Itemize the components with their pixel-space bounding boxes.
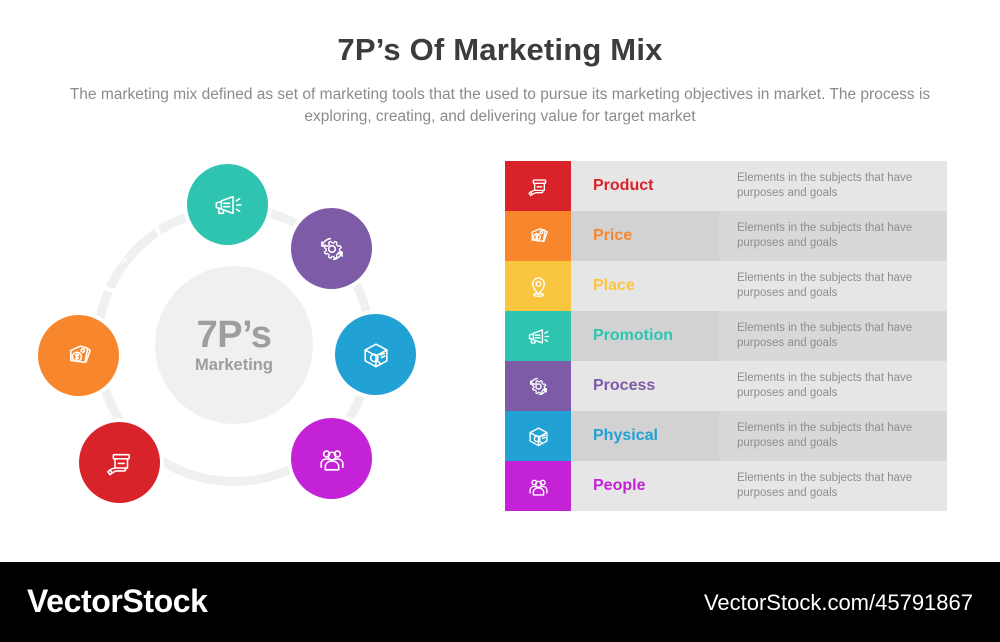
megaphone-icon [208, 185, 248, 225]
page-subtitle: The marketing mix defined as set of mark… [50, 84, 950, 128]
row-icon-cell [505, 261, 571, 311]
infographic-canvas: 7P’s Of Marketing Mix The marketing mix … [0, 0, 1000, 642]
row-body: Physical Elements in the subjects that h… [571, 411, 947, 461]
box-magnifier-icon [356, 335, 396, 375]
row-label: Physical [571, 411, 719, 461]
diagram-hub: 7P’s Marketing [155, 266, 313, 424]
table-row[interactable]: Place Elements in the subjects that have… [505, 261, 947, 311]
row-body: Price Elements in the subjects that have… [571, 211, 947, 261]
diagram-node-process[interactable] [291, 208, 372, 289]
table-row[interactable]: People Elements in the subjects that hav… [505, 461, 947, 511]
row-description: Elements in the subjects that have purpo… [719, 361, 947, 411]
row-icon-cell [505, 411, 571, 461]
gear-refresh-icon [312, 229, 352, 269]
vectorstock-url: VectorStock.com/45791867 [704, 590, 973, 616]
row-description: Elements in the subjects that have purpo… [719, 161, 947, 211]
row-body: Process Elements in the subjects that ha… [571, 361, 947, 411]
box-hand-icon [100, 443, 140, 483]
price-tag-icon [59, 336, 99, 376]
diagram-node-promotion[interactable] [187, 164, 268, 245]
row-icon-cell [505, 311, 571, 361]
page-title: 7P’s Of Marketing Mix [0, 32, 1000, 68]
row-label: Price [571, 211, 719, 261]
row-icon-cell [505, 361, 571, 411]
row-icon-cell [505, 461, 571, 511]
price-tag-icon [523, 221, 554, 252]
diagram-node-product[interactable] [79, 422, 160, 503]
vectorstock-logo: VectorStock [27, 583, 208, 620]
table-row[interactable]: Process Elements in the subjects that ha… [505, 361, 947, 411]
location-pin-icon [100, 229, 140, 269]
row-description: Elements in the subjects that have purpo… [719, 261, 947, 311]
people-group-icon [312, 439, 352, 479]
row-label: Process [571, 361, 719, 411]
people-group-icon [523, 471, 554, 502]
row-description: Elements in the subjects that have purpo… [719, 211, 947, 261]
row-description: Elements in the subjects that have purpo… [719, 411, 947, 461]
marketing-mix-table: Product Elements in the subjects that ha… [505, 161, 947, 511]
gear-refresh-icon [523, 371, 554, 402]
table-row[interactable]: Price Elements in the subjects that have… [505, 211, 947, 261]
table-row[interactable]: Product Elements in the subjects that ha… [505, 161, 947, 211]
location-pin-icon [523, 271, 554, 302]
row-label: Place [571, 261, 719, 311]
diagram-node-people[interactable] [291, 418, 372, 499]
row-description: Elements in the subjects that have purpo… [719, 461, 947, 511]
diagram-node-physical[interactable] [335, 314, 416, 395]
row-label: People [571, 461, 719, 511]
megaphone-icon [523, 321, 554, 352]
table-row[interactable]: Physical Elements in the subjects that h… [505, 411, 947, 461]
circular-diagram: 7P’s Marketing [30, 150, 450, 540]
hub-subtitle: Marketing [195, 355, 273, 375]
row-description: Elements in the subjects that have purpo… [719, 311, 947, 361]
hub-title: 7P’s [197, 316, 272, 354]
row-body: People Elements in the subjects that hav… [571, 461, 947, 511]
row-body: Promotion Elements in the subjects that … [571, 311, 947, 361]
row-label: Product [571, 161, 719, 211]
box-hand-icon [523, 171, 554, 202]
row-label: Promotion [571, 311, 719, 361]
row-body: Product Elements in the subjects that ha… [571, 161, 947, 211]
table-row[interactable]: Promotion Elements in the subjects that … [505, 311, 947, 361]
row-icon-cell [505, 211, 571, 261]
row-icon-cell [505, 161, 571, 211]
row-body: Place Elements in the subjects that have… [571, 261, 947, 311]
diagram-node-price[interactable] [38, 315, 119, 396]
box-magnifier-icon [523, 421, 554, 452]
diagram-node-place[interactable] [79, 208, 160, 289]
